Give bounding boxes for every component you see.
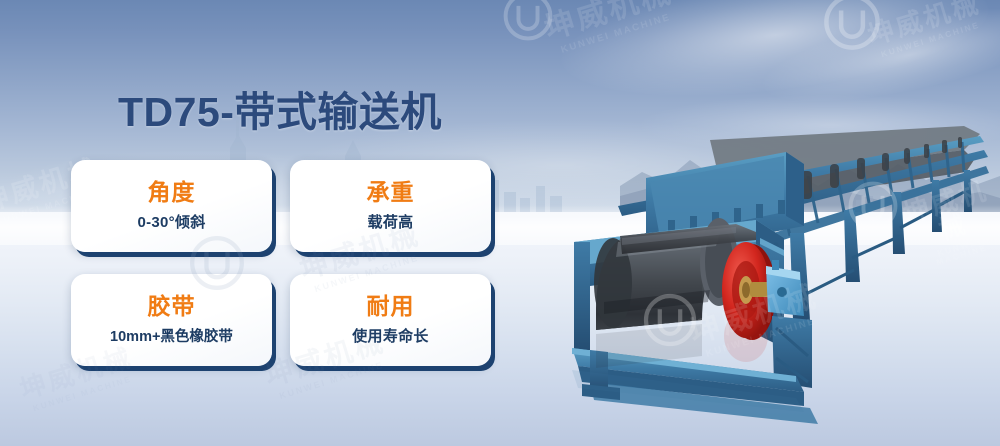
feature-card-belt[interactable]: 胶带 10mm+黑色橡胶带 [71,274,272,366]
feature-subtitle: 载荷高 [368,211,414,232]
page-title: TD75-带式输送机 [118,78,442,138]
feature-subtitle: 使用寿命长 [352,325,429,346]
feature-card-row: 胶带 10mm+黑色橡胶带 耐用 使用寿命长 [71,274,523,366]
feature-card-durability[interactable]: 耐用 使用寿命长 [290,274,491,366]
feature-title: 耐用 [367,294,415,318]
feature-card-grid: 角度 0-30°倾斜 承重 载荷高 胶带 10mm+黑色橡胶带 耐用 使用寿命长 [71,160,523,366]
feature-title: 胶带 [148,294,196,318]
feature-subtitle: 0-30°倾斜 [137,211,205,232]
belt-conveyor-illustration [560,120,1000,446]
feature-card-load-capacity[interactable]: 承重 载荷高 [290,160,491,252]
feature-card-angle[interactable]: 角度 0-30°倾斜 [71,160,272,252]
feature-title: 角度 [148,180,196,204]
feature-subtitle: 10mm+黑色橡胶带 [110,325,233,346]
feature-card-row: 角度 0-30°倾斜 承重 载荷高 [71,160,523,252]
product-banner: TD75-带式输送机 角度 0-30°倾斜 承重 载荷高 胶带 10mm+黑色橡… [0,0,1000,446]
feature-title: 承重 [367,180,415,204]
